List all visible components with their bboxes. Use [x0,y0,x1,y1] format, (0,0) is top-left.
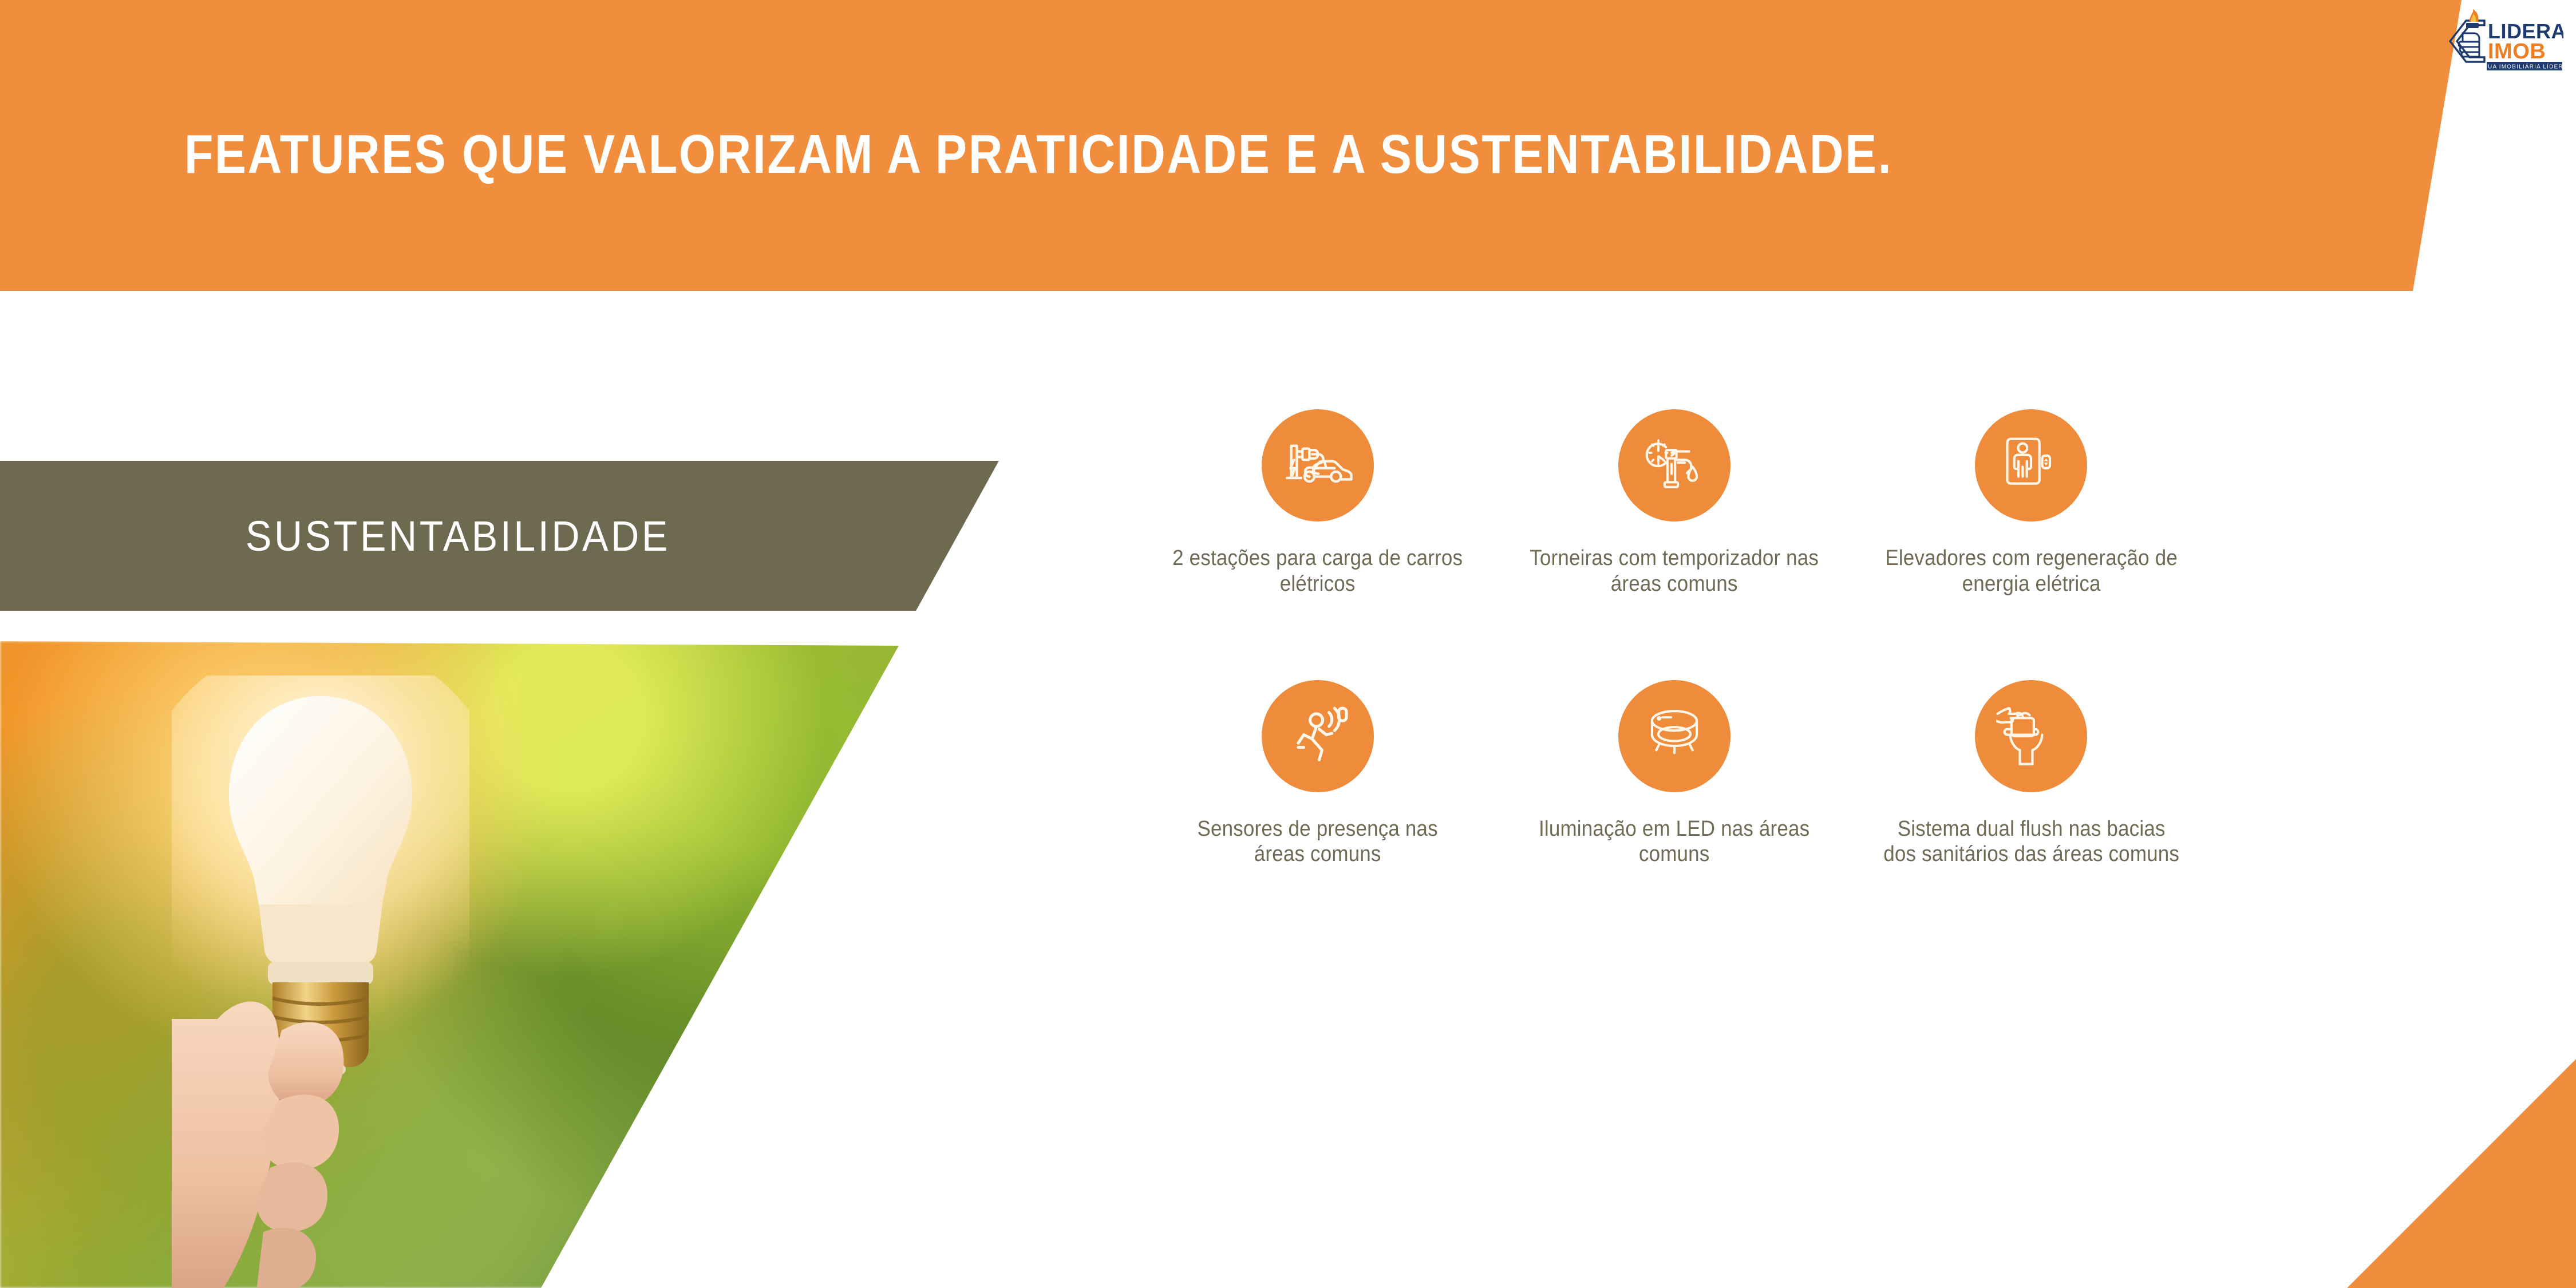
motion-sensor-icon [1262,680,1374,792]
page-title: FEATURES QUE VALORIZAM A PRATICIDADE E A… [184,123,1893,186]
led-ceiling-light-icon [1618,680,1730,792]
feature-label: Sensores de presença nas áreas comuns [1170,816,1466,868]
feature-item: 2 estações para carga de carros elétrico… [1156,409,1479,597]
slide-root: FEATURES QUE VALORIZAM A PRATICIDADE E A… [0,0,2576,1288]
dual-flush-toilet-icon [1975,680,2087,792]
feature-label: Torneiras com temporizador nas áreas com… [1526,546,1823,597]
features-grid: 2 estações para carga de carros elétrico… [1156,409,2192,867]
feature-item: Elevadores com regeneração de energia el… [1870,409,2192,597]
timed-faucet-icon [1618,409,1730,521]
lightbulb-photo [0,641,916,1288]
feature-label: 2 estações para carga de carros elétrico… [1170,546,1466,597]
ev-charging-station-icon [1262,409,1374,521]
feature-label: Elevadores com regeneração de energia el… [1883,546,2179,597]
feature-item: Torneiras com temporizador nas áreas com… [1513,409,1835,597]
logo-tagline: SUA IMOBILIÁRIA LÍDER! [2483,63,2563,70]
lidera-imob-logo: LIDERA IMOB SUA IMOBILIÁRIA LÍDER! [2443,8,2563,72]
banner-label: SUSTENTABILIDADE [37,461,879,611]
feature-label: Iluminação em LED nas áreas comuns [1526,816,1823,868]
elevator-icon [1975,409,2087,521]
feature-item: Sensores de presença nas áreas comuns [1156,680,1479,868]
corner-accent-triangle [2324,1059,2576,1288]
feature-label: Sistema dual flush nas bacias dos sanitá… [1883,816,2179,868]
feature-item: Sistema dual flush nas bacias dos sanitá… [1870,680,2192,868]
torch-hand-icon [2450,9,2484,62]
logo-brand-bottom: IMOB [2488,39,2546,64]
led-bulb-in-hand [172,675,469,1288]
feature-item: Iluminação em LED nas áreas comuns [1513,680,1835,868]
